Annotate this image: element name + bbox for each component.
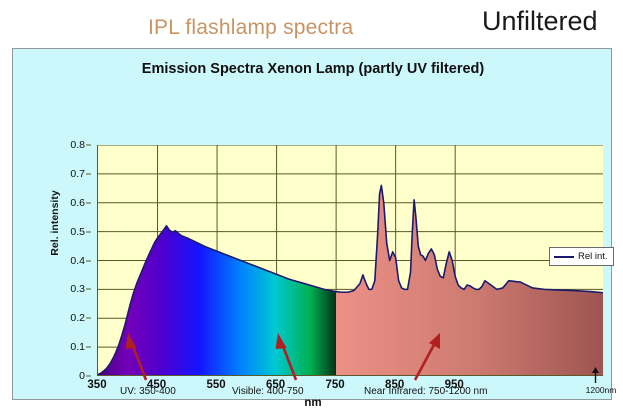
x-tick-label: 350 [87, 379, 106, 391]
legend-label-rel-int: Rel int. [578, 251, 608, 262]
y-tick-label: 0.8 [70, 139, 85, 151]
legend-line-swatch [554, 256, 574, 258]
chart-title: Emission Spectra Xenon Lamp (partly UV f… [13, 61, 613, 77]
y-tick-mark [86, 347, 91, 348]
y-tick-mark [86, 260, 91, 261]
annotation-label-uv: UV: 350-400 [120, 386, 176, 397]
y-tick-label: 0 [79, 370, 85, 382]
x-axis-title: nm [13, 397, 613, 409]
y-tick-mark [86, 173, 91, 174]
unfiltered-label: Unfiltered [482, 6, 598, 37]
x-tick-label: 750 [326, 379, 345, 391]
ipl-flashlamp-spectra-title: IPL flashlamp spectra [148, 16, 353, 40]
chart-legend[interactable]: Rel int. [549, 247, 614, 266]
y-tick-label: 0.3 [70, 283, 85, 295]
annotation-label-visible: Visible: 400-750 [232, 386, 304, 397]
end-of-range-marker: 1200nm [579, 367, 619, 401]
chart-panel: Emission Spectra Xenon Lamp (partly UV f… [12, 48, 612, 400]
y-tick-mark [86, 318, 91, 319]
y-axis-title: Rel. intensity [49, 173, 61, 273]
y-tick-label: 0.4 [70, 255, 85, 267]
y-tick-label: 0.1 [70, 341, 85, 353]
y-tick-mark [86, 231, 91, 232]
x-tick-label: 550 [206, 379, 225, 391]
y-tick-label: 0.5 [70, 226, 85, 238]
plot-area [97, 145, 603, 376]
y-tick-mark [86, 202, 91, 203]
up-arrow-icon [591, 367, 600, 383]
y-tick-label: 0.2 [70, 312, 85, 324]
y-tick-label: 0.6 [70, 197, 85, 209]
annotation-label-near-infrared: Near Infrared: 750-1200 nm [364, 386, 487, 397]
y-tick-mark [86, 376, 91, 377]
y-tick-mark [86, 289, 91, 290]
spectrum-fill [98, 185, 603, 376]
y-tick-label: 0.7 [70, 168, 85, 180]
spectrum-plot [98, 145, 603, 376]
end-wavelength-label: 1200nm [579, 385, 623, 395]
y-tick-mark [86, 145, 91, 146]
